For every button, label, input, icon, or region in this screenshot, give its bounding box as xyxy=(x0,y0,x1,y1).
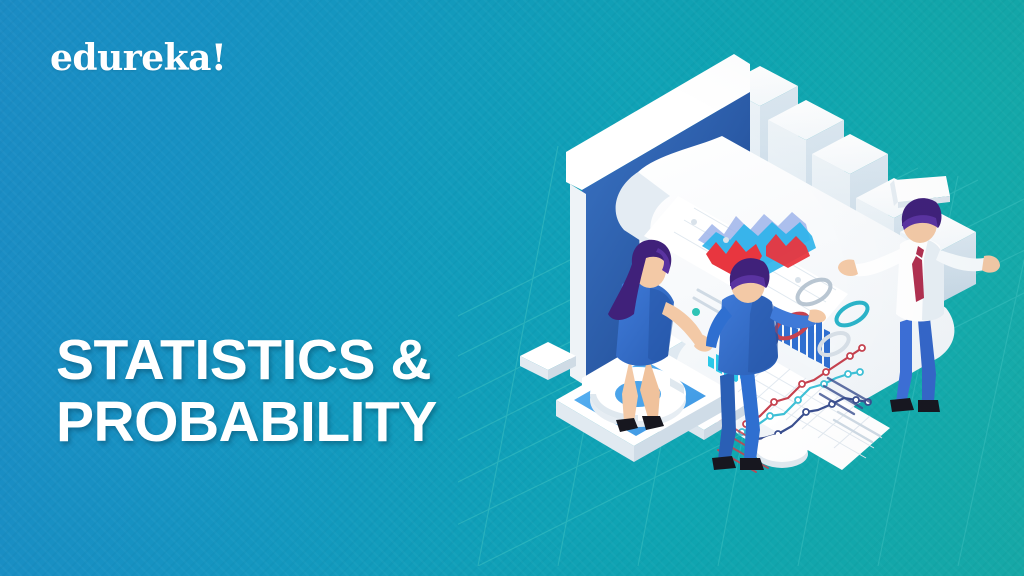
page-title: STATISTICS & PROBABILITY xyxy=(56,330,437,453)
donut-chart-3d xyxy=(590,367,686,427)
isometric-illustration xyxy=(498,26,1024,526)
page-title-line-1: STATISTICS & xyxy=(56,328,431,392)
small-cube-tile xyxy=(520,342,576,380)
edureka-logo[interactable]: edureka! xyxy=(50,40,226,76)
round-disc-puck xyxy=(756,434,808,468)
page-title-line-2: PROBABILITY xyxy=(56,392,437,454)
banner-canvas: edureka! STATISTICS & PROBABILITY xyxy=(0,0,1024,576)
status-dot-teal xyxy=(692,308,700,316)
